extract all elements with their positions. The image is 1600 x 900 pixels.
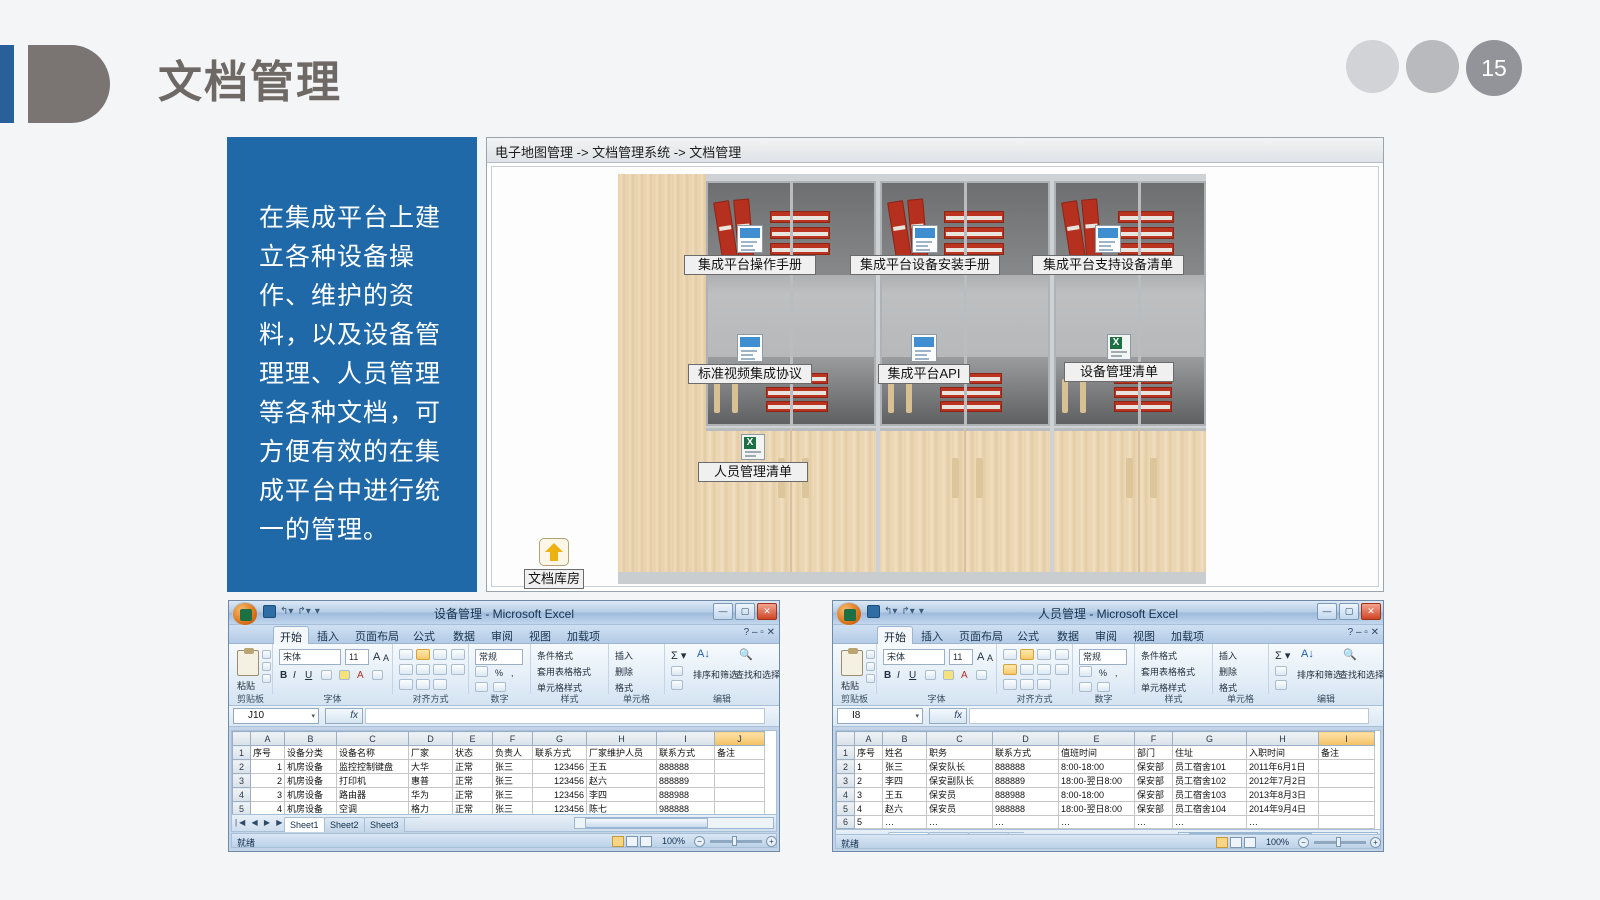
copy-icon[interactable] [866, 662, 875, 671]
document-item-device-list[interactable]: X 设备管理清单 [1064, 334, 1174, 382]
insert-function-icon[interactable]: fx [325, 708, 363, 724]
clear-icon[interactable] [671, 680, 683, 690]
increase-decimal-icon[interactable] [475, 682, 488, 692]
page-break-view-icon[interactable] [1244, 837, 1256, 848]
table-cell[interactable]: … [1135, 816, 1173, 829]
increase-font-icon[interactable]: A [373, 651, 380, 663]
align-top-icon[interactable] [1003, 649, 1017, 660]
table-cell[interactable]: 陈七 [587, 802, 657, 816]
table-cell[interactable] [1319, 788, 1375, 802]
document-item-supported-devices[interactable]: 集成平台支持设备清单 [1032, 225, 1184, 275]
table-cell[interactable] [1319, 774, 1375, 788]
spreadsheet-table[interactable]: ABCDEFGHI1序号姓名职务联系方式值班时间部门住址入职时间备注21张三保安… [836, 731, 1375, 830]
name-box[interactable]: J10▾ [233, 708, 319, 724]
table-cell[interactable]: 888888 [993, 760, 1059, 774]
align-center-icon[interactable] [1020, 664, 1034, 675]
formula-input[interactable] [365, 708, 765, 724]
header-cell[interactable]: 姓名 [883, 746, 927, 760]
spreadsheet-table[interactable]: ABCDEFGHIJ1序号设备分类设备名称厂家状态负责人联系方式厂家维护人员联系… [232, 731, 765, 815]
fill-icon[interactable] [1275, 666, 1287, 676]
row-header[interactable]: 4 [233, 788, 251, 802]
table-cell[interactable] [715, 760, 765, 774]
sort-filter-icon[interactable]: A↓ [697, 648, 710, 660]
table-cell[interactable]: 2014年9月4日 [1247, 802, 1319, 816]
door-handle[interactable] [952, 458, 959, 498]
maximize-button[interactable]: ▢ [1339, 603, 1359, 620]
find-select-icon[interactable]: 🔍 [1343, 648, 1357, 661]
ribbon-help-icon[interactable]: ? ‒ ▫ ✕ [1348, 627, 1379, 638]
zoom-in-button[interactable]: + [1370, 837, 1381, 848]
borders-icon[interactable] [925, 670, 936, 680]
page-layout-view-icon[interactable] [626, 836, 638, 847]
paste-label[interactable]: 粘贴 [237, 679, 255, 692]
table-cell[interactable]: 正常 [453, 788, 493, 802]
header-cell[interactable]: 备注 [715, 746, 765, 760]
formula-input[interactable] [969, 708, 1369, 724]
table-cell[interactable]: 路由器 [337, 788, 409, 802]
table-cell[interactable]: 正常 [453, 802, 493, 816]
table-cell[interactable] [1319, 760, 1375, 774]
column-header-H[interactable]: H [587, 732, 657, 746]
paste-icon[interactable] [841, 650, 863, 676]
minimize-button[interactable]: — [713, 603, 733, 620]
fill-icon[interactable] [671, 666, 683, 676]
column-header-I[interactable]: I [1319, 732, 1375, 746]
orientation-icon[interactable] [433, 679, 447, 690]
insert-cells-button[interactable]: 插入 [1219, 649, 1237, 662]
copy-icon[interactable] [262, 662, 271, 671]
table-cell[interactable]: … [993, 816, 1059, 829]
currency-icon[interactable] [1079, 666, 1092, 677]
spreadsheet-grid-personnel[interactable]: ABCDEFGHI1序号姓名职务联系方式值班时间部门住址入职时间备注21张三保安… [835, 730, 1381, 830]
column-header-G[interactable]: G [533, 732, 587, 746]
document-item-personnel-list[interactable]: X 人员管理清单 [698, 434, 808, 482]
number-format-select[interactable]: 常规 [475, 649, 523, 665]
table-row[interactable]: 21张三保安队长8888888:00-18:00保安部员工宿舍1012011年6… [837, 760, 1375, 774]
table-row[interactable]: 21机房设备监控控制键盘大华正常张三123456王五888888 [233, 760, 765, 774]
row-header[interactable]: 1 [233, 746, 251, 760]
zoom-slider-handle[interactable] [1336, 837, 1341, 847]
zoom-out-button[interactable]: − [694, 836, 705, 847]
column-header-B[interactable]: B [285, 732, 337, 746]
header-cell[interactable]: 设备名称 [337, 746, 409, 760]
conditional-format-button[interactable]: 条件格式 [537, 649, 573, 662]
table-cell[interactable]: 123456 [533, 774, 587, 788]
ribbon-tab-data[interactable]: 数据 [1051, 626, 1085, 644]
table-cell[interactable]: 888889 [657, 774, 715, 788]
table-cell[interactable]: 监控控制键盘 [337, 760, 409, 774]
table-row[interactable]: 43王五保安员8889888:00-18:00保安部员工宿舍1032013年8月… [837, 788, 1375, 802]
header-cell[interactable]: 部门 [1135, 746, 1173, 760]
table-cell[interactable]: … [1059, 816, 1135, 829]
horizontal-scrollbar[interactable] [574, 817, 774, 829]
align-bottom-icon[interactable] [1037, 649, 1051, 660]
table-cell[interactable]: 1 [855, 760, 883, 774]
align-bottom-icon[interactable] [433, 649, 447, 660]
sheet-tab-bar[interactable]: |◀ ◀ ▶ ▶| Sheet1 Sheet2 Sheet3 [231, 815, 777, 832]
ribbon-tab-data[interactable]: 数据 [447, 626, 481, 644]
conditional-format-button[interactable]: 条件格式 [1141, 649, 1177, 662]
align-center-icon[interactable] [416, 664, 430, 675]
cut-icon[interactable] [262, 650, 271, 659]
table-cell[interactable]: 保安员 [927, 802, 993, 816]
table-cell[interactable] [715, 802, 765, 816]
table-cell[interactable]: 正常 [453, 760, 493, 774]
header-cell[interactable]: 序号 [855, 746, 883, 760]
table-cell[interactable]: 张三 [493, 802, 533, 816]
ribbon-tab-formulas[interactable]: 公式 [1011, 626, 1045, 644]
column-header-F[interactable]: F [1135, 732, 1173, 746]
ribbon-help-icon[interactable]: ? ‒ ▫ ✕ [744, 627, 775, 638]
header-cell[interactable]: 值班时间 [1059, 746, 1135, 760]
table-cell[interactable]: 保安部 [1135, 760, 1173, 774]
increase-indent-icon[interactable] [1020, 679, 1034, 690]
ribbon-tab-view[interactable]: 视图 [523, 626, 557, 644]
font-color-icon[interactable]: A [961, 670, 968, 681]
table-cell[interactable]: 3 [855, 788, 883, 802]
underline-icon[interactable]: U [909, 670, 916, 681]
page-break-view-icon[interactable] [640, 836, 652, 847]
phonetic-icon[interactable] [976, 670, 987, 680]
table-row[interactable]: 1序号姓名职务联系方式值班时间部门住址入职时间备注 [837, 746, 1375, 760]
table-row[interactable]: 54机房设备空调格力正常张三123456陈七988888 [233, 802, 765, 816]
table-cell[interactable]: 保安部 [1135, 774, 1173, 788]
cut-icon[interactable] [866, 650, 875, 659]
document-item-platform-api[interactable]: 集成平台API [878, 334, 970, 384]
table-cell[interactable]: 8:00-18:00 [1059, 788, 1135, 802]
increase-font-icon[interactable]: A [977, 651, 984, 663]
decrease-indent-icon[interactable] [1003, 679, 1017, 690]
column-header-D[interactable]: D [409, 732, 453, 746]
table-cell[interactable]: 机房设备 [285, 802, 337, 816]
view-buttons[interactable] [1216, 837, 1256, 848]
underline-icon[interactable]: U [305, 670, 312, 681]
decrease-indent-icon[interactable] [399, 679, 413, 690]
fill-color-icon[interactable] [339, 670, 350, 680]
currency-icon[interactable] [475, 666, 488, 677]
autosum-icon[interactable]: Σ ▾ [671, 649, 686, 662]
wrap-text-icon[interactable] [1055, 649, 1069, 660]
spreadsheet-grid-equipment[interactable]: ABCDEFGHIJ1序号设备分类设备名称厂家状态负责人联系方式厂家维护人员联系… [231, 730, 777, 815]
table-cell[interactable]: 1 [251, 760, 285, 774]
table-cell[interactable]: 李四 [883, 774, 927, 788]
table-cell[interactable]: 888988 [993, 788, 1059, 802]
ribbon-tab-insert[interactable]: 插入 [311, 626, 345, 644]
decrease-font-icon[interactable]: A [987, 653, 993, 663]
new-sheet-button[interactable] [1008, 832, 1024, 833]
phonetic-icon[interactable] [372, 670, 383, 680]
merge-cells-icon[interactable] [1055, 664, 1069, 675]
door-handle[interactable] [1062, 379, 1068, 413]
table-cell[interactable]: 4 [251, 802, 285, 816]
column-header-B[interactable]: B [883, 732, 927, 746]
row-header[interactable]: 4 [837, 788, 855, 802]
increase-decimal-icon[interactable] [1079, 682, 1092, 692]
door-handle[interactable] [906, 379, 912, 413]
column-header-F[interactable]: F [493, 732, 533, 746]
table-cell[interactable]: … [883, 816, 927, 829]
autosum-icon[interactable]: Σ ▾ [1275, 649, 1290, 662]
comma-icon[interactable]: , [511, 668, 514, 678]
table-cell[interactable]: 张三 [883, 760, 927, 774]
zoom-in-button[interactable]: + [766, 836, 777, 847]
door-handle[interactable] [732, 379, 738, 413]
wrap-text-icon[interactable] [451, 649, 465, 660]
door-handle[interactable] [714, 379, 720, 413]
header-cell[interactable]: 设备分类 [285, 746, 337, 760]
table-cell[interactable]: 888888 [657, 760, 715, 774]
align-left-icon[interactable] [1003, 664, 1017, 675]
header-cell[interactable]: 入职时间 [1247, 746, 1319, 760]
column-header-A[interactable]: A [251, 732, 285, 746]
normal-view-icon[interactable] [1216, 837, 1228, 848]
table-cell[interactable]: 123456 [533, 788, 587, 802]
bold-icon[interactable]: B [280, 670, 287, 681]
table-cell[interactable]: 机房设备 [285, 774, 337, 788]
header-cell[interactable]: 住址 [1173, 746, 1247, 760]
table-row[interactable]: 65………………… [837, 816, 1375, 829]
table-cell[interactable]: 员工宿舍102 [1173, 774, 1247, 788]
column-header-A[interactable]: A [855, 732, 883, 746]
door-handle[interactable] [976, 458, 983, 498]
table-cell[interactable]: 格力 [409, 802, 453, 816]
table-cell[interactable]: 2013年8月3日 [1247, 788, 1319, 802]
find-select-button[interactable]: 查找和选择 [1339, 668, 1384, 681]
find-select-icon[interactable]: 🔍 [739, 648, 753, 661]
table-cell[interactable]: 保安队长 [927, 760, 993, 774]
column-header-C[interactable]: C [927, 732, 993, 746]
format-as-table-button[interactable]: 套用表格格式 [1141, 665, 1195, 678]
table-cell[interactable]: 2 [855, 774, 883, 788]
italic-icon[interactable]: I [897, 670, 900, 681]
align-left-icon[interactable] [399, 664, 413, 675]
select-all-corner[interactable] [837, 732, 855, 746]
document-item-operation-manual[interactable]: 集成平台操作手册 [684, 225, 816, 275]
decrease-decimal-icon[interactable] [1097, 682, 1110, 692]
window-controls[interactable]: — ▢ ✕ [713, 603, 777, 620]
ribbon-tab-formulas[interactable]: 公式 [407, 626, 441, 644]
font-name-input[interactable]: 宋体 [279, 649, 341, 665]
table-cell[interactable]: 打印机 [337, 774, 409, 788]
table-cell[interactable]: 机房设备 [285, 788, 337, 802]
table-cell[interactable] [715, 774, 765, 788]
align-middle-icon[interactable] [416, 649, 430, 660]
find-select-button[interactable]: 查找和选择 [735, 668, 780, 681]
insert-cells-button[interactable]: 插入 [615, 649, 633, 662]
table-cell[interactable]: 2 [251, 774, 285, 788]
name-box[interactable]: I8▾ [837, 708, 923, 724]
fill-color-icon[interactable] [943, 670, 954, 680]
ribbon-tab-page-layout[interactable]: 页面布局 [349, 626, 405, 644]
table-cell[interactable]: 3 [251, 788, 285, 802]
table-cell[interactable]: 保安部 [1135, 802, 1173, 816]
decrease-font-icon[interactable]: A [383, 653, 389, 663]
sort-filter-button[interactable]: 排序和筛选 [693, 668, 738, 681]
insert-function-icon[interactable]: fx [929, 708, 967, 724]
merge-cells-icon[interactable] [451, 664, 465, 675]
view-buttons[interactable] [612, 836, 652, 847]
column-header-I[interactable]: I [657, 732, 715, 746]
select-all-corner[interactable] [233, 732, 251, 746]
table-cell[interactable]: 员工宿舍101 [1173, 760, 1247, 774]
normal-view-icon[interactable] [612, 836, 624, 847]
ribbon-tab-home[interactable]: 开始 [877, 626, 913, 644]
zoom-slider-handle[interactable] [732, 836, 737, 846]
paste-icon[interactable] [237, 650, 259, 676]
format-as-table-button[interactable]: 套用表格格式 [537, 665, 591, 678]
maximize-button[interactable]: ▢ [735, 603, 755, 620]
column-header-C[interactable]: C [337, 732, 409, 746]
ribbon-tab-addins[interactable]: 加载项 [1165, 626, 1210, 644]
document-item-install-manual[interactable]: 集成平台设备安装手册 [850, 225, 1000, 275]
door-handle[interactable] [1080, 379, 1086, 413]
document-room-shortcut[interactable]: 文档库房 [521, 538, 587, 589]
table-cell[interactable] [715, 788, 765, 802]
header-cell[interactable]: 联系方式 [533, 746, 587, 760]
align-top-icon[interactable] [399, 649, 413, 660]
ribbon-tab-review[interactable]: 审阅 [485, 626, 519, 644]
document-item-video-protocol[interactable]: 标准视频集成协议 [688, 334, 812, 384]
font-color-icon[interactable]: A [357, 670, 364, 681]
table-cell[interactable]: 张三 [493, 788, 533, 802]
zoom-out-button[interactable]: − [1298, 837, 1309, 848]
column-header-G[interactable]: G [1173, 732, 1247, 746]
comma-icon[interactable]: , [1115, 668, 1118, 678]
table-cell[interactable]: … [1247, 816, 1319, 829]
sort-filter-icon[interactable]: A↓ [1301, 648, 1314, 660]
sheet-tab-sheet1[interactable]: Sheet1 [284, 817, 325, 832]
ribbon-tab-view[interactable]: 视图 [1127, 626, 1161, 644]
table-cell[interactable]: 张三 [493, 774, 533, 788]
column-header-D[interactable]: D [993, 732, 1059, 746]
delete-cells-button[interactable]: 删除 [615, 665, 633, 678]
table-cell[interactable]: 王五 [883, 788, 927, 802]
wood-door-3[interactable] [1054, 428, 1206, 584]
table-row[interactable]: 32李四保安副队长88888918:00-翌日8:00保安部员工宿舍102201… [837, 774, 1375, 788]
ribbon-tab-home[interactable]: 开始 [273, 626, 309, 644]
table-cell[interactable]: 机房设备 [285, 760, 337, 774]
table-cell[interactable]: 员工宿舍103 [1173, 788, 1247, 802]
table-cell[interactable]: 5 [855, 816, 883, 829]
header-cell[interactable]: 职务 [927, 746, 993, 760]
row-header[interactable]: 5 [837, 802, 855, 816]
table-cell[interactable]: 123456 [533, 802, 587, 816]
row-header[interactable]: 3 [233, 774, 251, 788]
door-handle[interactable] [1126, 458, 1133, 498]
table-cell[interactable]: 空调 [337, 802, 409, 816]
table-cell[interactable]: 正常 [453, 774, 493, 788]
row-header[interactable]: 3 [837, 774, 855, 788]
table-cell[interactable]: 988888 [993, 802, 1059, 816]
percent-icon[interactable]: % [1099, 668, 1107, 678]
font-name-input[interactable]: 宋体 [883, 649, 945, 665]
table-cell[interactable] [1319, 816, 1375, 829]
ribbon-tab-page-layout[interactable]: 页面布局 [953, 626, 1009, 644]
table-cell[interactable]: 李四 [587, 788, 657, 802]
table-cell[interactable]: 保安员 [927, 788, 993, 802]
sheet-tab-sheet2[interactable]: Sheet2 [324, 817, 365, 832]
align-right-icon[interactable] [433, 664, 447, 675]
borders-icon[interactable] [321, 670, 332, 680]
header-cell[interactable]: 备注 [1319, 746, 1375, 760]
header-cell[interactable]: 厂家 [409, 746, 453, 760]
column-header-J[interactable]: J [715, 732, 765, 746]
table-cell[interactable]: … [927, 816, 993, 829]
table-cell[interactable]: 赵六 [587, 774, 657, 788]
ribbon-tab-addins[interactable]: 加载项 [561, 626, 606, 644]
close-button[interactable]: ✕ [757, 603, 777, 620]
page-layout-view-icon[interactable] [1230, 837, 1242, 848]
bold-icon[interactable]: B [884, 670, 891, 681]
table-cell[interactable]: 4 [855, 802, 883, 816]
row-header[interactable]: 1 [837, 746, 855, 760]
table-cell[interactable]: 保安部 [1135, 788, 1173, 802]
table-cell[interactable]: 18:00-翌日8:00 [1059, 802, 1135, 816]
table-cell[interactable]: 员工宿舍104 [1173, 802, 1247, 816]
door-handle[interactable] [1150, 458, 1157, 498]
format-painter-icon[interactable] [866, 674, 875, 683]
align-right-icon[interactable] [1037, 664, 1051, 675]
header-cell[interactable]: 负责人 [493, 746, 533, 760]
format-painter-icon[interactable] [262, 674, 271, 683]
delete-cells-button[interactable]: 删除 [1219, 665, 1237, 678]
table-cell[interactable]: 王五 [587, 760, 657, 774]
ribbon-tab-insert[interactable]: 插入 [915, 626, 949, 644]
sheet-tab-sheet3[interactable]: Sheet3 [364, 817, 405, 832]
row-header[interactable]: 2 [233, 760, 251, 774]
table-cell[interactable]: 18:00-翌日8:00 [1059, 774, 1135, 788]
header-cell[interactable]: 状态 [453, 746, 493, 760]
table-cell[interactable]: 张三 [493, 760, 533, 774]
table-row[interactable]: 54赵六保安员98888818:00-翌日8:00保安部员工宿舍1042014年… [837, 802, 1375, 816]
header-cell[interactable]: 联系方式 [993, 746, 1059, 760]
header-cell[interactable]: 序号 [251, 746, 285, 760]
decrease-decimal-icon[interactable] [493, 682, 506, 692]
font-size-input[interactable]: 11 [345, 649, 369, 665]
row-header[interactable]: 5 [233, 802, 251, 816]
new-sheet-button[interactable] [404, 817, 420, 818]
row-header[interactable]: 2 [837, 760, 855, 774]
table-cell[interactable]: 2012年7月2日 [1247, 774, 1319, 788]
window-controls[interactable]: — ▢ ✕ [1317, 603, 1381, 620]
paste-label[interactable]: 粘贴 [841, 679, 859, 692]
column-header-E[interactable]: E [453, 732, 493, 746]
align-middle-icon[interactable] [1020, 649, 1034, 660]
table-cell[interactable]: 赵六 [883, 802, 927, 816]
increase-indent-icon[interactable] [416, 679, 430, 690]
table-cell[interactable]: 888988 [657, 788, 715, 802]
table-row[interactable]: 32机房设备打印机惠普正常张三123456赵六888889 [233, 774, 765, 788]
column-header-H[interactable]: H [1247, 732, 1319, 746]
table-cell[interactable]: 988888 [657, 802, 715, 816]
table-cell[interactable]: 保安副队长 [927, 774, 993, 788]
header-cell[interactable]: 厂家维护人员 [587, 746, 657, 760]
table-row[interactable]: 43机房设备路由器华为正常张三123456李四888988 [233, 788, 765, 802]
minimize-button[interactable]: — [1317, 603, 1337, 620]
column-header-E[interactable]: E [1059, 732, 1135, 746]
table-cell[interactable]: 2011年6月1日 [1247, 760, 1319, 774]
table-row[interactable]: 1序号设备分类设备名称厂家状态负责人联系方式厂家维护人员联系方式备注 [233, 746, 765, 760]
percent-icon[interactable]: % [495, 668, 503, 678]
table-cell[interactable]: 华为 [409, 788, 453, 802]
table-cell[interactable]: 8:00-18:00 [1059, 760, 1135, 774]
italic-icon[interactable]: I [293, 670, 296, 681]
font-size-input[interactable]: 11 [949, 649, 973, 665]
table-cell[interactable]: 123456 [533, 760, 587, 774]
table-cell[interactable]: 大华 [409, 760, 453, 774]
number-format-select[interactable]: 常规 [1079, 649, 1127, 665]
table-cell[interactable]: 惠普 [409, 774, 453, 788]
